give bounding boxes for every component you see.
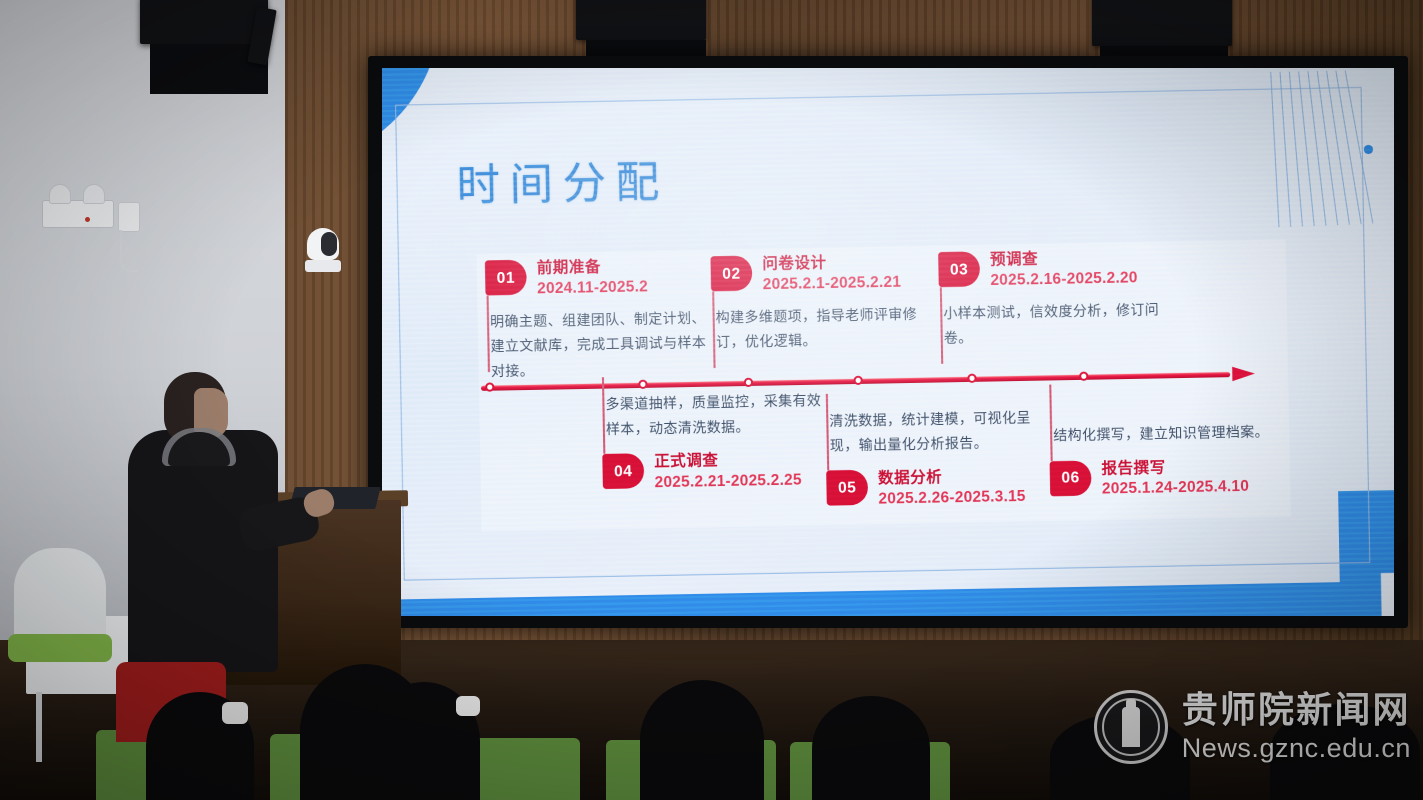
timeline-step-01[interactable]: 01 前期准备 2024.11-2025.2 明确主题、组建团队、制定计划、建立… [485, 256, 713, 383]
step-number-badge: 05 [826, 470, 868, 506]
white-chair [14, 548, 106, 644]
projection-screen: 时间分配 01 前期准备 2024.11-2025.2 [382, 68, 1394, 616]
bottom-accent-band [382, 581, 1394, 616]
page-title: 时间分配 [456, 147, 669, 214]
step-description: 多渠道抽样，质量监控，采集有效样本，动态清洗数据。 [605, 389, 827, 442]
emergency-light-indicator [85, 217, 90, 222]
timeline-step-04[interactable]: 多渠道抽样，质量监控，采集有效样本，动态清洗数据。 04 正式调查 2025.2… [601, 389, 828, 494]
step-name: 正式调查 [654, 450, 802, 472]
step-description: 明确主题、组建团队、制定计划、建立文献库，完成工具调试与样本对接。 [490, 306, 713, 383]
step-name: 预调查 [990, 248, 1138, 270]
step-name: 报告撰写 [1101, 457, 1249, 479]
chair-seat [8, 634, 112, 662]
ptz-camera-base [305, 260, 341, 272]
timeline-step-header: 04 正式调查 2025.2.21-2025.2.25 [602, 450, 828, 494]
stage-light-rig [576, 0, 706, 40]
audience-member [812, 696, 930, 800]
step-description: 构建多维题项，指导老师评审修订，优化逻辑。 [716, 302, 938, 355]
step-name: 问卷设计 [762, 253, 901, 275]
step-date: 2025.2.26-2025.3.15 [878, 486, 1026, 509]
step-number-badge: 02 [710, 255, 752, 291]
university-seal-icon [1094, 690, 1168, 764]
step-number-badge: 03 [938, 251, 980, 287]
watermark: 贵师院新闻网 News.gznc.edu.cn [1094, 690, 1411, 764]
audience-member [640, 680, 764, 800]
lecture-hall-photo: 时间分配 01 前期准备 2024.11-2025.2 [0, 0, 1423, 800]
timeline-node [638, 380, 647, 389]
hanging-cable [120, 230, 138, 272]
timeline-step-06[interactable]: 结构化撰写，建立知识管理档案。 06 报告撰写 2025.1.24-2025.4… [1049, 419, 1305, 500]
emergency-light-lamp [83, 184, 105, 204]
timeline-step-header: 05 数据分析 2025.2.26-2025.3.15 [826, 467, 1052, 511]
step-description: 小样本测试，信效度分析，修订问卷。 [943, 298, 1165, 351]
timeline-node [744, 378, 753, 387]
face-mask [222, 702, 248, 724]
stage-light-rig [140, 0, 268, 44]
step-description: 结构化撰写，建立知识管理档案。 [1053, 419, 1304, 448]
timeline-step-header: 06 报告撰写 2025.1.24-2025.4.10 [1050, 456, 1305, 500]
watermark-english: News.gznc.edu.cn [1182, 735, 1411, 762]
timeline-arrow-icon [1232, 366, 1255, 381]
step-date: 2025.2.16-2025.2.20 [990, 268, 1138, 291]
timeline-node [485, 382, 494, 391]
timeline-step-header: 03 预调查 2025.2.16-2025.2.20 [938, 248, 1164, 292]
presenter [128, 372, 288, 672]
face-mask [456, 696, 480, 716]
emergency-light-lamp [49, 184, 71, 204]
step-description: 清洗数据，统计建模，可视化呈现，输出量化分析报告。 [829, 405, 1051, 458]
timeline-step-05[interactable]: 清洗数据，统计建模，可视化呈现，输出量化分析报告。 05 数据分析 2025.2… [825, 405, 1052, 510]
presentation-slide: 时间分配 01 前期准备 2024.11-2025.2 [382, 68, 1394, 616]
ptz-camera [305, 228, 341, 274]
presenter-body [128, 430, 278, 672]
timeline-step-03[interactable]: 03 预调查 2025.2.16-2025.2.20 小样本测试，信效度分析，修… [938, 248, 1165, 351]
timeline-step-header: 02 问卷设计 2025.2.1-2025.2.21 [710, 252, 936, 296]
step-date: 2025.2.21-2025.2.25 [654, 470, 802, 493]
step-name: 前期准备 [537, 257, 648, 278]
step-number-badge: 06 [1050, 460, 1092, 496]
seal-tower-glyph [1122, 707, 1140, 747]
emergency-light [42, 200, 114, 228]
watermark-chinese: 贵师院新闻网 [1182, 692, 1411, 728]
step-date: 2024.11-2025.2 [537, 277, 648, 299]
timeline-step-02[interactable]: 02 问卷设计 2025.2.1-2025.2.21 构建多维题项，指导老师评审… [710, 252, 937, 355]
table-leg [36, 692, 42, 762]
wall-socket [118, 202, 140, 232]
line-pattern-decoration [1270, 70, 1360, 227]
timeline-node [1079, 371, 1088, 380]
step-date: 2025.1.24-2025.4.10 [1102, 477, 1250, 500]
step-date: 2025.2.1-2025.2.21 [763, 272, 902, 295]
ptz-camera-lens [321, 232, 337, 256]
timeline-step-header: 01 前期准备 2024.11-2025.2 [485, 256, 711, 300]
stage-light-rig [1092, 0, 1232, 46]
right-accent-notch [1381, 573, 1394, 616]
step-number-badge: 01 [485, 260, 527, 296]
step-name: 数据分析 [878, 467, 1026, 489]
step-number-badge: 04 [602, 453, 644, 489]
dot-decoration [1364, 145, 1373, 154]
